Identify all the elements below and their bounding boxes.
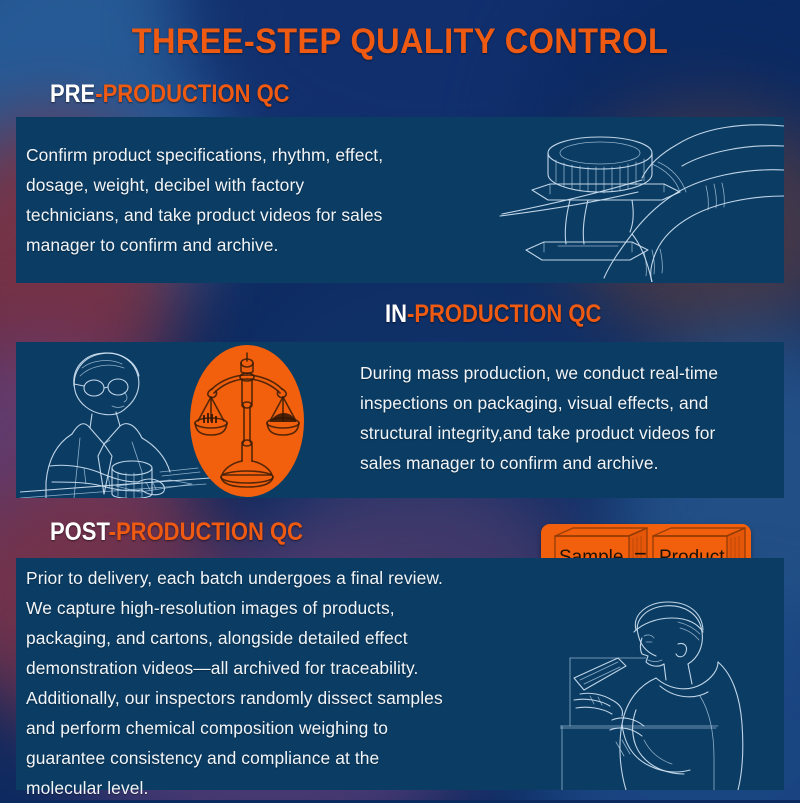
heading-orange-part: -PRODUCTION QC bbox=[109, 518, 303, 546]
heading-orange-part: -PRODUCTION QC bbox=[407, 300, 601, 328]
section-heading-in-production: IN-PRODUCTION QC bbox=[385, 300, 601, 329]
heading-white-part: IN bbox=[385, 300, 407, 328]
heading-orange-part: -PRODUCTION QC bbox=[95, 80, 289, 108]
balance-scale-medallion bbox=[190, 345, 305, 497]
heading-white-part: PRE bbox=[50, 80, 95, 108]
section-heading-pre-production: PRE-PRODUCTION QC bbox=[50, 80, 290, 109]
body-text-pre-production: Confirm product specifications, rhythm, … bbox=[26, 140, 496, 260]
section-heading-post-production: POST-PRODUCTION QC bbox=[50, 518, 303, 547]
body-text-post-production: Prior to delivery, each batch undergoes … bbox=[26, 563, 566, 803]
heading-white-part: POST bbox=[50, 518, 109, 546]
page-title: THREE-STEP QUALITY CONTROL bbox=[28, 22, 772, 62]
body-text-in-production: During mass production, we conduct real-… bbox=[360, 358, 790, 478]
